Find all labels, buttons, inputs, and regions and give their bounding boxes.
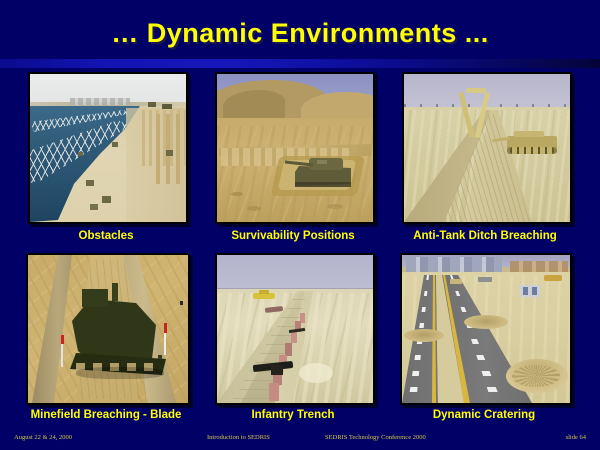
footer-date: August 22 & 24, 2000 [14, 434, 72, 441]
shrub [247, 206, 261, 211]
lane-marker-small [180, 301, 183, 305]
tank-track-shadow [295, 182, 351, 187]
weapon-mount [271, 365, 283, 375]
roadside-structure-detail [523, 287, 528, 295]
slide-footer: August 22 & 24, 2000 Introduction to SED… [0, 428, 600, 450]
lane-marker-flag [61, 335, 64, 344]
slide-canvas: … Dynamic Environments ... [0, 0, 600, 450]
background-vehicle-top [259, 290, 269, 294]
vehicle-shadow [76, 367, 164, 379]
soldier [269, 383, 279, 401]
shrub [231, 192, 243, 196]
image-anti-tank-ditch-breaching[interactable] [402, 72, 572, 224]
pilings-near [156, 114, 186, 184]
caption-minefield-breaching-blade: Minefield Breaching - Blade [12, 409, 200, 421]
title-divider-rule [0, 59, 600, 68]
engineer-vehicle-cab [82, 289, 108, 307]
image-dynamic-cratering[interactable] [400, 253, 572, 405]
lane-marker-small [158, 355, 162, 359]
footer-slide-number: slide 64 [566, 434, 586, 441]
exhaust-stack [112, 283, 118, 301]
distant-buildings [406, 257, 502, 273]
footer-event-name: SEDRIS Technology Conference 2000 [325, 434, 426, 441]
figure-infantry-trench: Infantry Trench [215, 253, 375, 405]
image-survivability-positions[interactable] [215, 72, 375, 224]
caption-infantry-trench: Infantry Trench [197, 409, 389, 421]
footer-presentation-title: Introduction to SEDRIS [207, 434, 270, 441]
caption-anti-tank-ditch-breaching: Anti-Tank Ditch Breaching [380, 230, 590, 242]
tank-detail [317, 160, 327, 164]
image-minefield-breaching-blade[interactable] [26, 253, 190, 405]
page-title: … Dynamic Environments ... [0, 18, 600, 49]
shrub [327, 204, 343, 209]
figure-anti-tank-ditch-breaching: Anti-Tank Ditch Breaching [402, 72, 572, 224]
mine-crate [102, 196, 111, 203]
mine-crate [78, 152, 83, 156]
bridge-apex [466, 88, 486, 93]
crater-large-near-rim [512, 365, 560, 387]
mine-crate [162, 104, 172, 109]
distant-buildings [70, 98, 130, 105]
figure-minefield-breaching-blade: Minefield Breaching - Blade [26, 253, 190, 405]
crater-mid [464, 315, 508, 329]
figure-dynamic-cratering: Dynamic Cratering [400, 253, 572, 405]
mine-crate [90, 204, 98, 210]
soldier [291, 331, 297, 343]
figure-survivability-positions: Survivability Positions [215, 72, 375, 224]
image-infantry-trench[interactable] [215, 253, 375, 405]
armored-vehicle-top [514, 131, 544, 137]
roadside-structure-detail [532, 287, 537, 295]
caption-obstacles: Obstacles [10, 230, 202, 242]
sand-patch [299, 363, 333, 383]
mine-crate [166, 150, 173, 156]
lane-marker-flag [164, 323, 167, 333]
title-bar: … Dynamic Environments ... [0, 0, 600, 58]
roadside-vehicle [544, 275, 562, 281]
image-obstacles[interactable] [28, 72, 188, 224]
roadside-vehicle [478, 277, 492, 282]
sky [217, 255, 373, 289]
caption-dynamic-cratering: Dynamic Cratering [386, 409, 582, 421]
road-wheels [510, 147, 554, 154]
roadside-vehicle [450, 279, 462, 284]
caption-survivability-positions: Survivability Positions [197, 230, 389, 242]
mine-crate [86, 180, 94, 186]
crater-left [404, 329, 444, 342]
figure-obstacles: Obstacles [28, 72, 188, 224]
mine-crate [112, 142, 118, 147]
mine-crate [148, 102, 156, 107]
